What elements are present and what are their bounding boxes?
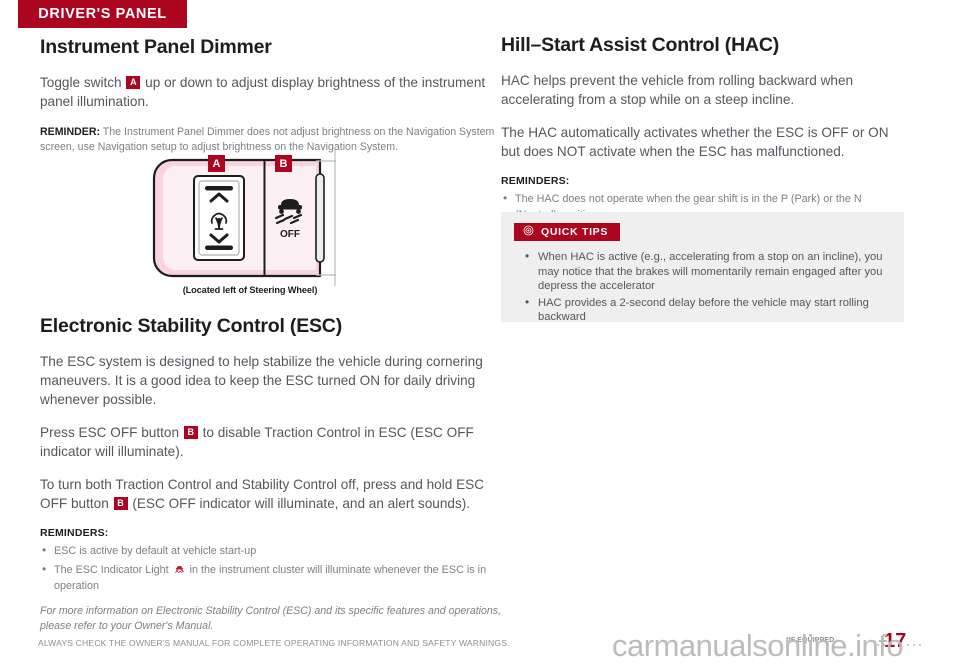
- site-watermark: carmanualsonline.info: [612, 628, 903, 664]
- diagram-badge-a: A: [208, 155, 225, 172]
- quick-tips-panel: QUICK TIPS When HAC is active (e.g., acc…: [501, 212, 904, 322]
- heading-electronic-stability-control: Electronic Stability Control (ESC): [40, 315, 502, 338]
- esc-off-label: OFF: [280, 229, 300, 240]
- quick-tips-icon: [523, 225, 534, 239]
- esc-owners-manual-note: For more information on Electronic Stabi…: [40, 604, 502, 633]
- esc-reminders-label: REMINDERS:: [40, 527, 502, 539]
- esc-indicator-light-icon: [174, 564, 185, 575]
- document-page: DRIVER'S PANEL Instrument Panel Dimmer T…: [0, 0, 960, 669]
- diagram-badge-b: B: [275, 155, 292, 172]
- quick-tips-item-2: HAC provides a 2-second delay before the…: [523, 296, 886, 325]
- esc-reminder-item-1: ESC is active by default at vehicle star…: [40, 543, 502, 559]
- section-tab-label: DRIVER'S PANEL: [38, 6, 166, 22]
- hac-paragraph-1: HAC helps prevent the vehicle from rolli…: [501, 71, 905, 109]
- section-tab-drivers-panel: DRIVER'S PANEL: [18, 0, 187, 28]
- callout-chip-a: A: [126, 76, 140, 89]
- switch-panel-diagram: OFF: [150, 148, 350, 288]
- esc-paragraph-2: Press ESC OFF button B to disable Tracti…: [40, 423, 502, 461]
- esc-reminder-2-pre: The ESC Indicator Light: [54, 564, 169, 576]
- quick-tips-item-1: When HAC is active (e.g., accelerating f…: [523, 250, 886, 294]
- quick-tips-label: QUICK TIPS: [541, 226, 608, 238]
- heading-hill-start-assist-control: Hill–Start Assist Control (HAC): [501, 34, 905, 57]
- diagram-caption: (Located left of Steering Wheel): [150, 285, 350, 295]
- footer-disclaimer: ALWAYS CHECK THE OWNER'S MANUAL FOR COMP…: [38, 638, 510, 648]
- hac-paragraph-2: The HAC automatically activates whether …: [501, 123, 905, 161]
- esc-section: Electronic Stability Control (ESC) The E…: [40, 315, 502, 633]
- switch-panel-illustration: OFF: [150, 148, 350, 288]
- esc-reminders-list: ESC is active by default at vehicle star…: [40, 543, 502, 594]
- quick-tips-badge: QUICK TIPS: [514, 223, 620, 241]
- esc-p2-pre: Press ESC OFF button: [40, 425, 179, 440]
- hac-reminders-label: REMINDERS:: [501, 175, 905, 187]
- dimmer-body-pre: Toggle switch: [40, 75, 122, 90]
- esc-paragraph-1: The ESC system is designed to help stabi…: [40, 352, 502, 409]
- left-column: Instrument Panel Dimmer Toggle switch A …: [40, 36, 502, 154]
- dimmer-reminder-label: REMINDER:: [40, 126, 100, 138]
- esc-p3-post: (ESC OFF indicator will illuminate, and …: [132, 496, 470, 511]
- callout-chip-b-2: B: [114, 497, 128, 510]
- callout-chip-b-1: B: [184, 426, 198, 439]
- quick-tips-list: When HAC is active (e.g., accelerating f…: [523, 250, 886, 327]
- dimmer-body-paragraph: Toggle switch A up or down to adjust dis…: [40, 73, 502, 111]
- heading-instrument-panel-dimmer: Instrument Panel Dimmer: [40, 36, 502, 59]
- esc-reminder-item-2: The ESC Indicator Light in the instrumen…: [40, 562, 502, 594]
- esc-paragraph-3: To turn both Traction Control and Stabil…: [40, 475, 502, 513]
